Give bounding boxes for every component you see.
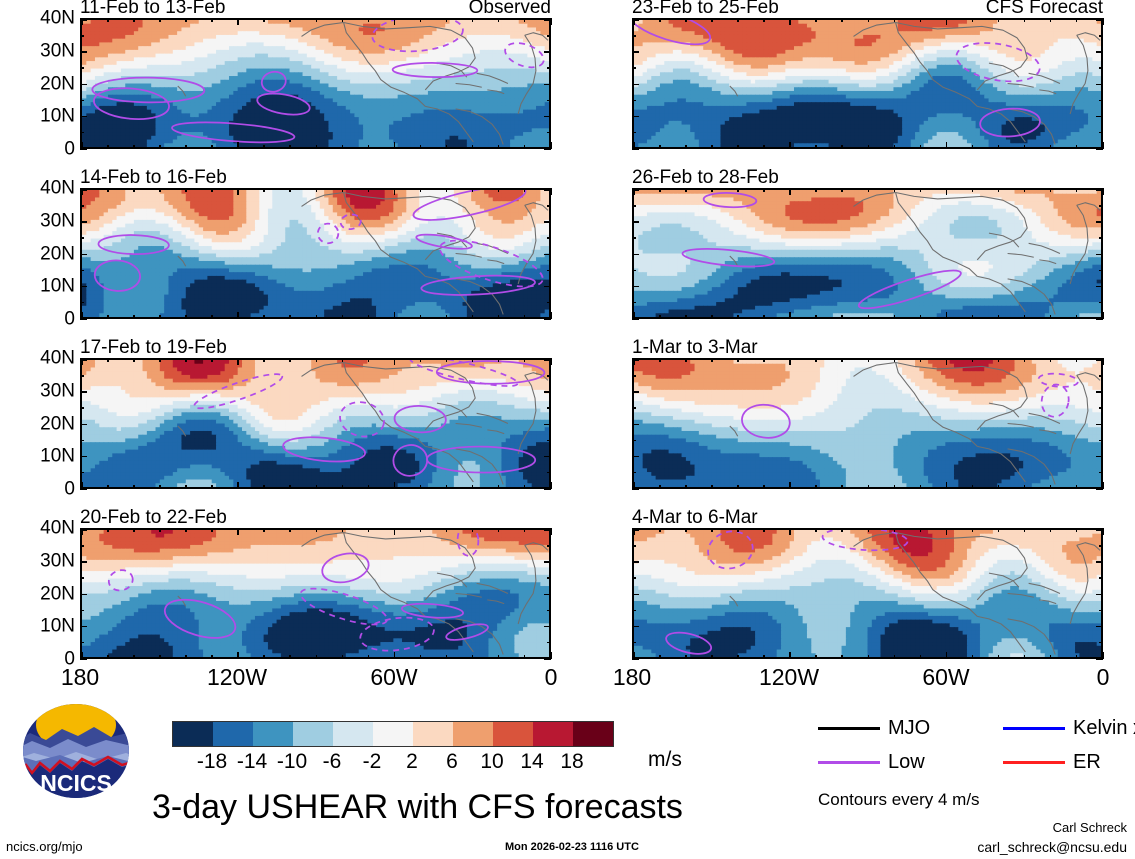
colorbar-swatch [373, 722, 413, 746]
axis-tick [685, 145, 687, 149]
axis-tick [80, 67, 84, 69]
axis-tick [632, 456, 639, 458]
axis-tick [159, 18, 161, 22]
axis-tick [632, 67, 636, 69]
axis-tick [524, 315, 526, 319]
map-field [80, 358, 551, 489]
axis-tick [998, 145, 1000, 149]
y-axis-tick-label: 0 [64, 310, 75, 329]
axis-tick [998, 655, 1000, 659]
x-axis-tick-label: 180 [61, 666, 99, 689]
axis-tick [737, 18, 739, 22]
colorbar-tick-label: -18 [197, 751, 227, 772]
axis-tick [789, 188, 791, 195]
axis-tick [472, 485, 474, 489]
axis-tick [868, 188, 870, 192]
axis-tick [894, 145, 896, 149]
axis-tick [1076, 188, 1078, 192]
y-axis-tick-label: 40N [40, 519, 75, 538]
axis-tick [868, 18, 870, 22]
axis-tick [420, 655, 422, 659]
axis-tick [498, 188, 500, 192]
axis-tick [1099, 642, 1103, 644]
axis-tick [159, 358, 161, 362]
legend-entry: Kelvin x2 [1003, 718, 1135, 738]
axis-tick [547, 642, 551, 644]
axis-tick [446, 528, 448, 532]
axis-tick [446, 655, 448, 659]
axis-tick [80, 270, 84, 272]
y-axis-tick-label: 20N [40, 74, 75, 93]
map-panel: 4-Mar to 6-Mar 180120W60W0 [632, 528, 1103, 659]
map-field [632, 18, 1103, 149]
axis-tick [80, 254, 87, 256]
axis-tick [1099, 270, 1103, 272]
axis-tick [920, 18, 922, 22]
axis-tick [998, 485, 1000, 489]
axis-tick [394, 358, 396, 365]
axis-tick [547, 472, 551, 474]
axis-tick [547, 205, 551, 207]
axis-tick [1096, 116, 1103, 118]
axis-tick [107, 145, 109, 149]
colorbar-swatch [293, 722, 333, 746]
axis-tick [342, 528, 344, 532]
axis-tick [211, 655, 213, 659]
axis-tick [368, 358, 370, 362]
axis-tick [659, 18, 661, 22]
panel-title: 20-Feb to 22-Feb [80, 508, 227, 527]
axis-tick [159, 528, 161, 532]
axis-tick [1099, 610, 1103, 612]
axis-tick [685, 315, 687, 319]
axis-tick [946, 18, 948, 25]
axis-tick [711, 358, 713, 362]
axis-tick [80, 610, 84, 612]
axis-tick [80, 577, 84, 579]
axis-tick [133, 485, 135, 489]
axis-tick [446, 358, 448, 362]
y-axis-tick-label: 20N [40, 414, 75, 433]
axis-tick [420, 528, 422, 532]
axis-tick [544, 286, 551, 288]
axis-tick [737, 485, 739, 489]
axis-tick [544, 488, 551, 490]
page-title: 3-day USHEAR with CFS forecasts [152, 790, 683, 824]
axis-tick [263, 18, 265, 22]
axis-tick [544, 148, 551, 150]
panel-title: 14-Feb to 16-Feb [80, 168, 227, 187]
axis-tick [185, 358, 187, 362]
legend-label: Low [888, 752, 925, 772]
axis-tick [544, 359, 551, 361]
axis-tick [237, 528, 239, 535]
axis-tick [1099, 132, 1103, 134]
axis-tick [1024, 315, 1026, 319]
legend-entry: ER [1003, 752, 1101, 772]
axis-tick [1096, 19, 1103, 21]
legend-label: ER [1073, 752, 1101, 772]
axis-tick [159, 655, 161, 659]
axis-tick [80, 440, 84, 442]
axis-tick [80, 359, 87, 361]
legend-line-swatch [1003, 727, 1065, 730]
x-axis-tick-label: 0 [545, 666, 558, 689]
axis-tick [632, 594, 639, 596]
axis-tick [1096, 488, 1103, 490]
axis-tick [1096, 594, 1103, 596]
axis-tick [133, 655, 135, 659]
axis-tick [544, 561, 551, 563]
axis-tick [544, 84, 551, 86]
axis-tick [763, 18, 765, 22]
axis-tick [185, 655, 187, 659]
axis-tick [737, 315, 739, 319]
axis-tick [316, 528, 318, 532]
axis-tick [632, 359, 639, 361]
colorbar-tick-label: 6 [446, 751, 458, 772]
axis-tick [920, 315, 922, 319]
axis-tick [1099, 205, 1103, 207]
filled-contours [82, 360, 549, 487]
filled-contours [634, 20, 1101, 147]
axis-tick [342, 18, 344, 22]
axis-tick [946, 652, 948, 659]
axis-tick [263, 145, 265, 149]
axis-tick [972, 358, 974, 362]
ncics-logo-text: NCICS [40, 770, 112, 796]
panel-title: 11-Feb to 13-Feb [80, 0, 225, 17]
axis-tick [185, 145, 187, 149]
axis-tick [737, 145, 739, 149]
axis-tick [1096, 148, 1103, 150]
axis-tick [80, 148, 87, 150]
axis-tick [420, 18, 422, 22]
map-field [80, 18, 551, 149]
axis-tick [237, 312, 239, 319]
legend-line-swatch [1003, 761, 1065, 764]
axis-tick [789, 358, 791, 365]
axis-tick [80, 116, 87, 118]
axis-tick [80, 488, 87, 490]
axis-tick [1096, 658, 1103, 660]
axis-tick [133, 188, 135, 192]
axis-tick [763, 528, 765, 532]
axis-tick [632, 577, 636, 579]
axis-tick [711, 18, 713, 22]
axis-tick [420, 188, 422, 192]
colorbar-swatch [333, 722, 373, 746]
axis-tick [659, 655, 661, 659]
axis-tick [544, 254, 551, 256]
axis-tick [632, 626, 639, 628]
axis-tick [1024, 18, 1026, 22]
axis-tick [80, 456, 87, 458]
map-panel: 14-Feb to 16-Feb 40N30N20N10N0 [80, 188, 551, 319]
axis-tick [342, 145, 344, 149]
axis-tick [316, 655, 318, 659]
axis-tick [185, 188, 187, 192]
axis-tick [547, 67, 551, 69]
axis-tick [316, 188, 318, 192]
axis-tick [763, 655, 765, 659]
axis-tick [80, 35, 84, 37]
axis-tick [524, 358, 526, 362]
axis-tick [972, 188, 974, 192]
axis-tick [446, 145, 448, 149]
axis-tick [659, 358, 661, 362]
axis-tick [80, 302, 84, 304]
axis-tick [815, 145, 817, 149]
axis-tick [446, 485, 448, 489]
y-axis-tick-label: 30N [40, 551, 75, 570]
map-field [80, 188, 551, 319]
axis-tick [420, 145, 422, 149]
colorbar-swatch [413, 722, 453, 746]
axis-tick [472, 18, 474, 22]
axis-tick [1099, 440, 1103, 442]
filled-contours [634, 360, 1101, 487]
map-field [632, 188, 1103, 319]
axis-tick [685, 528, 687, 532]
axis-tick [498, 485, 500, 489]
colorbar-swatch [533, 722, 573, 746]
axis-tick [544, 626, 551, 628]
axis-tick [894, 485, 896, 489]
axis-tick [394, 18, 396, 25]
axis-tick [1096, 626, 1103, 628]
axis-tick [632, 254, 639, 256]
axis-tick [815, 358, 817, 362]
axis-tick [972, 18, 974, 22]
axis-tick [841, 145, 843, 149]
axis-tick [368, 188, 370, 192]
axis-tick [920, 655, 922, 659]
axis-tick [685, 655, 687, 659]
axis-tick [80, 19, 87, 21]
axis-tick [632, 286, 639, 288]
map-panel: 20-Feb to 22-Feb 40N30N20N10N0180120W60W… [80, 528, 551, 659]
panel-title: 26-Feb to 28-Feb [632, 168, 779, 187]
axis-tick [632, 375, 636, 377]
axis-tick [946, 312, 948, 319]
map-field [632, 358, 1103, 489]
axis-tick [998, 18, 1000, 22]
axis-tick [472, 655, 474, 659]
axis-tick [211, 358, 213, 362]
axis-tick [868, 528, 870, 532]
colorbar-tick-label: 18 [560, 751, 583, 772]
axis-tick [107, 18, 109, 22]
axis-tick [80, 100, 84, 102]
axis-tick [685, 188, 687, 192]
axis-tick [133, 315, 135, 319]
axis-tick [524, 188, 526, 192]
axis-tick [1096, 51, 1103, 53]
axis-tick [763, 485, 765, 489]
axis-tick [472, 145, 474, 149]
axis-tick [185, 485, 187, 489]
y-axis-tick-label: 30N [40, 381, 75, 400]
axis-tick [685, 18, 687, 22]
x-axis-tick-label: 120W [207, 666, 267, 689]
axis-tick [1076, 485, 1078, 489]
axis-tick [1096, 391, 1103, 393]
axis-tick [80, 472, 84, 474]
axis-tick [632, 51, 639, 53]
axis-tick [868, 145, 870, 149]
map-panel: 1-Mar to 3-Mar [632, 358, 1103, 489]
axis-tick [446, 18, 448, 22]
axis-tick [544, 51, 551, 53]
axis-tick [946, 528, 948, 535]
axis-tick [524, 485, 526, 489]
axis-tick [632, 318, 639, 320]
axis-tick [632, 148, 639, 150]
axis-tick [263, 358, 265, 362]
axis-tick [737, 358, 739, 362]
axis-tick [342, 315, 344, 319]
axis-tick [998, 188, 1000, 192]
axis-tick [263, 655, 265, 659]
axis-tick [263, 315, 265, 319]
axis-tick [894, 528, 896, 532]
axis-tick [133, 528, 135, 532]
axis-tick [211, 315, 213, 319]
axis-tick [368, 315, 370, 319]
axis-tick [237, 358, 239, 365]
axis-tick [841, 358, 843, 362]
axis-tick [789, 482, 791, 489]
axis-tick [815, 528, 817, 532]
axis-tick [711, 188, 713, 192]
axis-tick [1076, 528, 1078, 532]
axis-tick [1050, 188, 1052, 192]
colorbar-swatch [213, 722, 253, 746]
axis-tick [263, 188, 265, 192]
y-axis-tick-label: 40N [40, 349, 75, 368]
axis-tick [841, 188, 843, 192]
axis-tick [737, 655, 739, 659]
axis-tick [544, 529, 551, 531]
axis-tick [342, 358, 344, 362]
axis-tick [1096, 561, 1103, 563]
axis-tick [420, 315, 422, 319]
ncics-logo: NCICS [16, 703, 136, 799]
colorbar-swatch [573, 722, 613, 746]
axis-tick [998, 358, 1000, 362]
axis-tick [107, 358, 109, 362]
axis-tick [1024, 485, 1026, 489]
site-url-label: ncics.org/mjo [6, 840, 83, 853]
axis-tick [632, 100, 636, 102]
axis-tick [868, 485, 870, 489]
email-label: carl_schreck@ncsu.edu [977, 840, 1127, 854]
axis-tick [632, 545, 636, 547]
axis-tick [107, 188, 109, 192]
axis-tick [789, 652, 791, 659]
axis-tick [394, 312, 396, 319]
axis-tick [498, 18, 500, 22]
axis-tick [368, 655, 370, 659]
axis-tick [80, 642, 84, 644]
axis-tick [632, 440, 636, 442]
axis-tick [632, 84, 639, 86]
axis-tick [498, 358, 500, 362]
axis-tick [659, 188, 661, 192]
y-axis-tick-label: 30N [40, 211, 75, 230]
axis-tick [1099, 237, 1103, 239]
axis-tick [659, 528, 661, 532]
axis-tick [815, 18, 817, 22]
axis-tick [632, 391, 639, 393]
axis-tick [789, 528, 791, 535]
y-axis-tick-label: 10N [40, 617, 75, 636]
axis-tick [632, 561, 639, 563]
axis-tick [632, 642, 636, 644]
author-label: Carl Schreck [1053, 821, 1127, 834]
axis-tick [80, 561, 87, 563]
axis-tick [446, 315, 448, 319]
axis-tick [1096, 286, 1103, 288]
y-axis-tick-label: 10N [40, 277, 75, 296]
axis-tick [211, 485, 213, 489]
axis-tick [1099, 472, 1103, 474]
axis-tick [1024, 188, 1026, 192]
axis-tick [632, 116, 639, 118]
axis-tick [544, 658, 551, 660]
axis-tick [159, 188, 161, 192]
axis-tick [815, 485, 817, 489]
axis-tick [211, 18, 213, 22]
colorbar [172, 721, 614, 747]
axis-tick [185, 528, 187, 532]
axis-tick [420, 358, 422, 362]
axis-tick [632, 132, 636, 134]
axis-tick [1076, 18, 1078, 22]
axis-tick [547, 237, 551, 239]
axis-tick [544, 391, 551, 393]
axis-tick [1076, 655, 1078, 659]
axis-tick [316, 358, 318, 362]
axis-tick [524, 528, 526, 532]
axis-tick [763, 145, 765, 149]
axis-tick [1024, 528, 1026, 532]
axis-tick [368, 485, 370, 489]
axis-tick [394, 652, 396, 659]
axis-tick [80, 318, 87, 320]
axis-tick [547, 302, 551, 304]
axis-tick [868, 358, 870, 362]
axis-tick [632, 529, 639, 531]
axis-tick [920, 358, 922, 362]
axis-tick [632, 237, 636, 239]
axis-tick [632, 407, 636, 409]
axis-tick [237, 482, 239, 489]
axis-tick [1099, 545, 1103, 547]
axis-tick [289, 485, 291, 489]
axis-tick [159, 145, 161, 149]
axis-tick [1050, 485, 1052, 489]
axis-tick [263, 485, 265, 489]
axis-tick [544, 19, 551, 21]
x-axis-tick-label: 120W [759, 666, 819, 689]
axis-tick [544, 424, 551, 426]
map-field [80, 528, 551, 659]
axis-tick [547, 100, 551, 102]
axis-tick [544, 456, 551, 458]
axis-tick [972, 655, 974, 659]
